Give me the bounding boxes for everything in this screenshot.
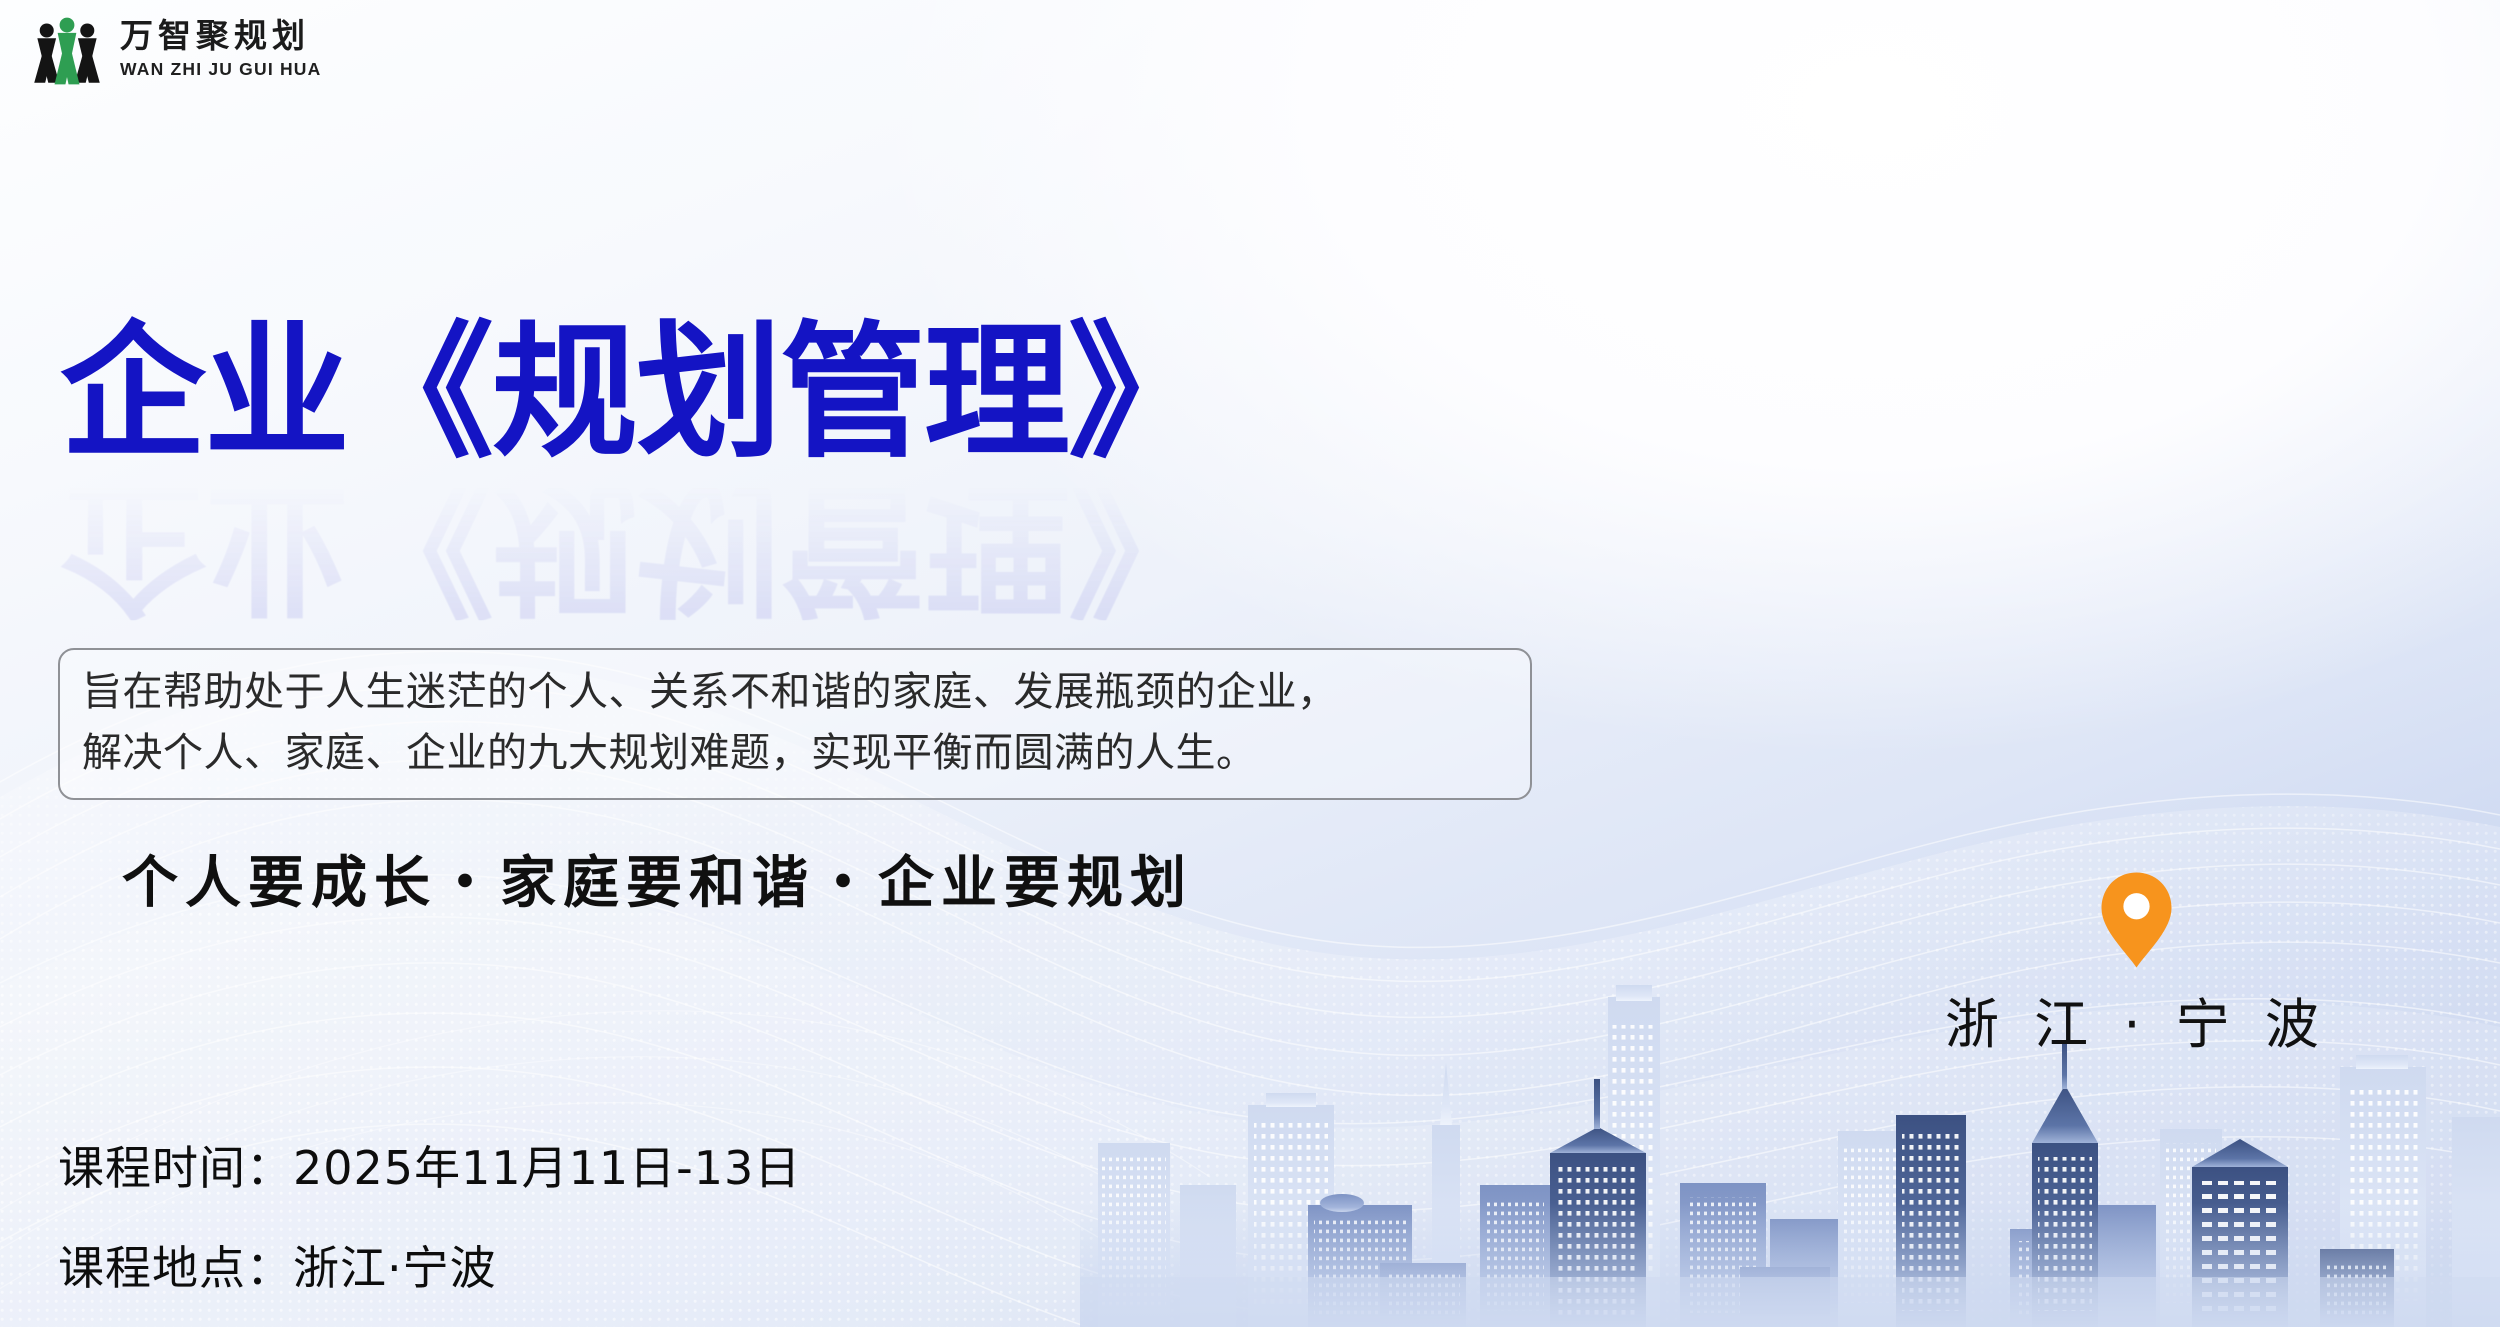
tagline: 个人要成长・家庭要和谐・企业要规划 xyxy=(122,838,1193,919)
description-line-1: 旨在帮助处于人生迷茫的个人、关系不和谐的家庭、发展瓶颈的企业， xyxy=(82,662,1510,723)
three-people-icon xyxy=(28,14,106,86)
description-box: 旨在帮助处于人生迷茫的个人、关系不和谐的家庭、发展瓶颈的企业， 解决个人、家庭、… xyxy=(58,648,1532,800)
location-badge: 浙 江 · 宁 波 xyxy=(1945,870,2328,1059)
brand-name-en: WAN ZHI JU GUI HUA xyxy=(120,61,321,79)
hero-title-block: 企业《规划管理》 企业《规划管理》 xyxy=(60,318,1212,621)
course-time: 课程时间：2025年11月11日-13日 xyxy=(58,1132,801,1198)
brand-text: 万智聚规划 WAN ZHI JU GUI HUA xyxy=(120,21,321,79)
poster-canvas: 万智聚规划 WAN ZHI JU GUI HUA 企业《规划管理》 企业《规划管… xyxy=(0,0,2500,1327)
page-title: 企业《规划管理》 xyxy=(60,318,1212,468)
brand-logo[interactable]: 万智聚规划 WAN ZHI JU GUI HUA xyxy=(28,14,321,86)
course-info: 课程时间：2025年11月11日-13日 课程地点：浙江·宁波 xyxy=(58,1132,801,1298)
description-line-2: 解决个人、家庭、企业的九大规划难题，实现平衡而圆满的人生。 xyxy=(82,723,1510,784)
location-label: 浙 江 · 宁 波 xyxy=(1945,980,2328,1059)
page-title-reflection: 企业《规划管理》 xyxy=(60,470,1212,620)
course-place: 课程地点：浙江·宁波 xyxy=(58,1232,801,1298)
map-pin-icon xyxy=(2099,870,2174,970)
brand-name-cn: 万智聚规划 xyxy=(120,21,321,54)
